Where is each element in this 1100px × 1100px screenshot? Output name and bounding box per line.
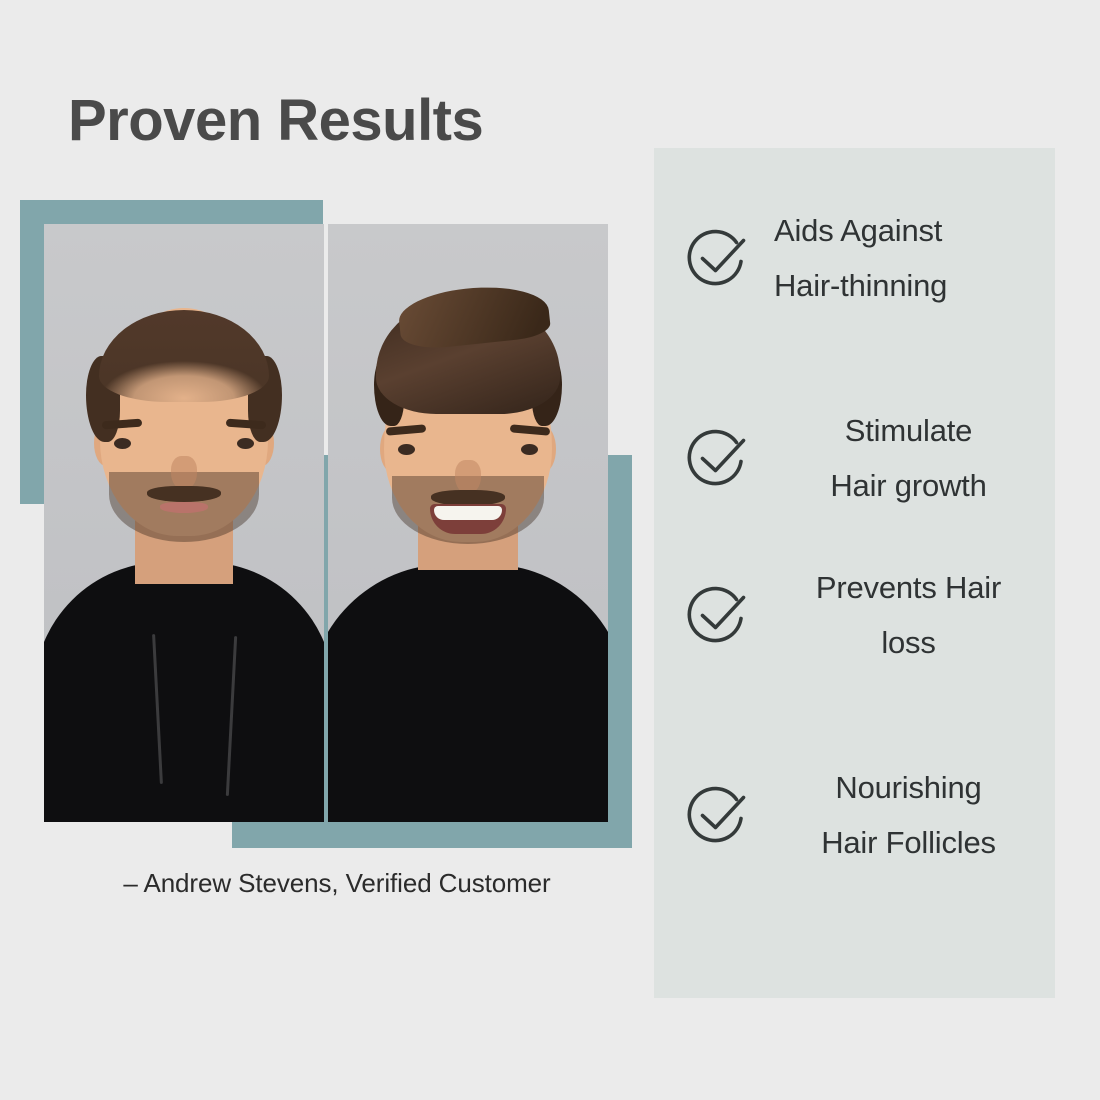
benefit-item-stimulate-hair-growth: Stimulate Hair growth — [654, 403, 1055, 513]
benefit-item-nourishing-hair-follicles: Nourishing Hair Follicles — [654, 760, 1055, 870]
benefit-line-2: Hair-thinning — [774, 268, 947, 303]
after-nose — [455, 460, 481, 494]
check-circle-icon — [680, 220, 756, 296]
before-eye-right — [237, 438, 254, 449]
benefit-item-aids-against-hair-thinning: Aids Against Hair-thinning — [654, 203, 1055, 313]
benefit-line-2: loss — [881, 625, 935, 660]
before-thinning-hair — [99, 310, 269, 402]
before-moustache — [147, 486, 221, 502]
before-mouth — [160, 502, 208, 513]
benefit-label: Nourishing Hair Follicles — [756, 760, 1055, 870]
after-eye-left — [398, 444, 415, 455]
before-portrait-illustration — [44, 224, 324, 822]
before-eye-left — [114, 438, 131, 449]
check-circle-icon — [680, 577, 756, 653]
before-torso — [44, 562, 324, 822]
check-circle-icon — [680, 420, 756, 496]
before-photo — [44, 224, 324, 822]
benefit-label: Stimulate Hair growth — [756, 403, 1055, 513]
benefits-panel: Aids Against Hair-thinning Stimulate Hai… — [654, 148, 1055, 998]
before-after-collage: – Andrew Stevens, Verified Customer — [0, 0, 660, 1100]
after-photo — [328, 224, 608, 822]
benefit-label: Prevents Hair loss — [756, 560, 1055, 670]
testimonial-caption: – Andrew Stevens, Verified Customer — [44, 868, 630, 899]
before-nose — [171, 456, 197, 490]
benefit-item-prevents-hair-loss: Prevents Hair loss — [654, 560, 1055, 670]
benefit-line-1: Nourishing — [835, 770, 981, 805]
after-smiling-mouth — [430, 504, 506, 534]
after-portrait-illustration — [328, 224, 608, 822]
after-teeth — [434, 506, 502, 520]
after-eye-right — [521, 444, 538, 455]
benefit-line-1: Prevents Hair — [816, 570, 1001, 605]
check-circle-icon — [680, 777, 756, 853]
benefit-label: Aids Against Hair-thinning — [756, 203, 1055, 313]
after-torso — [328, 564, 608, 822]
benefit-line-2: Hair growth — [830, 468, 986, 503]
poster-canvas: Proven Results — [0, 0, 1100, 1100]
benefit-line-1: Aids Against — [774, 213, 942, 248]
benefit-line-1: Stimulate — [845, 413, 972, 448]
benefit-line-2: Hair Follicles — [821, 825, 996, 860]
